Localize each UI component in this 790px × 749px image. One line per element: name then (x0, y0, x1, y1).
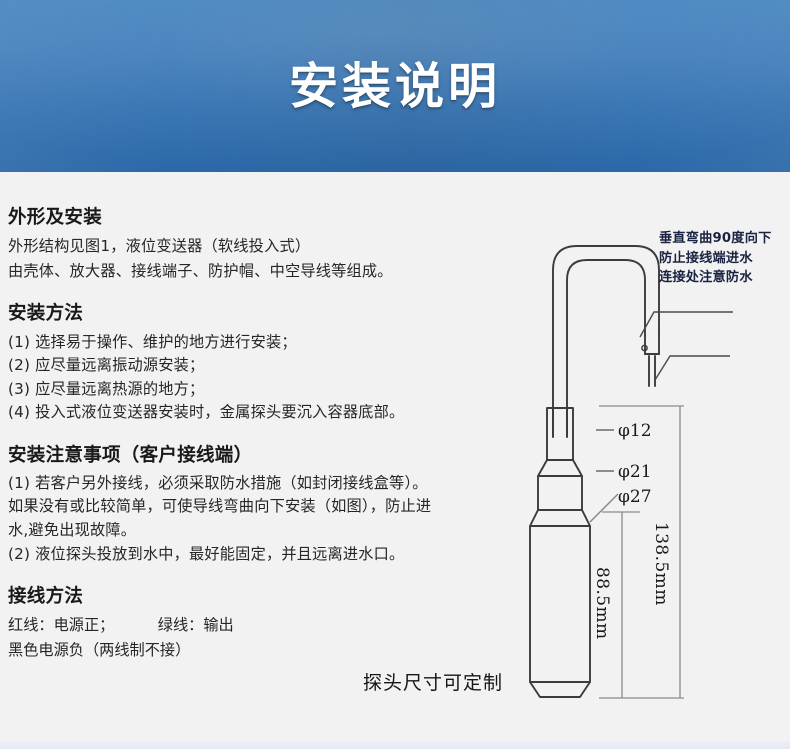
dimension-total-length (599, 406, 684, 698)
diameter-27-leader (590, 494, 618, 522)
section-line: (4) 投入式液位变送器安装时，金属探头要沉入容器底部。 (8, 401, 518, 425)
wiring-line-positive: 红线：电源正； 绿线：输出 (8, 613, 518, 638)
wiring-line-negative: 黑色电源负（两线制不接） (8, 638, 518, 663)
instructions-text-column: 外形及安装 外形结构见图1，液位变送器（软线投入式） 由壳体、放大器、接线端子、… (8, 206, 518, 663)
dimension-label-diameter-12: φ12 (618, 421, 652, 441)
section-installation-notes: 安装注意事项（客户接线端） (1) 若客户另外接线，必须采取防水措施（如封闭接线… (8, 444, 518, 566)
page-banner: 安装说明 (0, 0, 790, 172)
section-line: 外形结构见图1，液位变送器（软线投入式） (8, 234, 518, 259)
section-appearance-and-installation: 外形及安装 外形结构见图1，液位变送器（软线投入式） 由壳体、放大器、接线端子、… (8, 206, 518, 283)
custom-size-note: 探头尺寸可定制 (363, 668, 503, 695)
annotation-leader-lines (640, 312, 733, 380)
probe-drawing-svg (518, 222, 790, 722)
section-installation-method: 安装方法 (1) 选择易于操作、维护的地方进行安装； (2) 应尽量远离振动源安… (8, 302, 518, 424)
page-bottom-strip (0, 741, 790, 749)
section-heading: 安装方法 (8, 302, 518, 325)
section-line: (2) 液位探头投放到水中，最好能固定，并且远离进水口。 (8, 543, 518, 567)
annotation-waterproof-joint: 连接处注意防水 (659, 269, 753, 286)
installation-instructions-page: 安装说明 外形及安装 外形结构见图1，液位变送器（软线投入式） 由壳体、放大器、… (0, 0, 790, 749)
probe-diagram: 垂直弯曲90度向下 防止接线端进水 连接处注意防水 φ12 φ21 φ27 13… (518, 222, 790, 722)
section-line: 由壳体、放大器、接线端子、防护帽、中空导线等组成。 (8, 259, 518, 284)
section-heading: 安装注意事项（客户接线端） (8, 444, 518, 467)
section-heading: 接线方法 (8, 585, 518, 608)
section-line: 水,避免出现故障。 (8, 519, 518, 543)
section-line: (3) 应尽量远离热源的地方； (8, 378, 518, 402)
annotation-prevent-water-ingress: 防止接线端进水 (659, 250, 753, 267)
section-wiring-method: 接线方法 红线：电源正； 绿线：输出 黑色电源负（两线制不接） (8, 585, 518, 662)
section-heading: 外形及安装 (8, 206, 518, 229)
dimension-label-total-length: 138.5mm (651, 522, 671, 606)
section-line: (2) 应尽量远离振动源安装； (8, 354, 518, 378)
section-line: (1) 选择易于操作、维护的地方进行安装； (8, 331, 518, 355)
diameter-leader-lines (596, 430, 614, 471)
probe-body-outline (530, 408, 590, 697)
dimension-label-diameter-27: φ27 (618, 487, 652, 507)
page-title: 安装说明 (0, 47, 790, 118)
section-line: (1) 若客户另外接线，必须采取防水措施（如封闭接线盒等）。 (8, 472, 518, 496)
section-line: 如果没有或比较简单，可使导线弯曲向下安装（如图），防止进 (8, 495, 518, 519)
dimension-label-body-length: 88.5mm (592, 567, 612, 640)
dimension-label-diameter-21: φ21 (618, 462, 652, 482)
annotation-bend-90-degrees: 垂直弯曲90度向下 (659, 230, 771, 247)
